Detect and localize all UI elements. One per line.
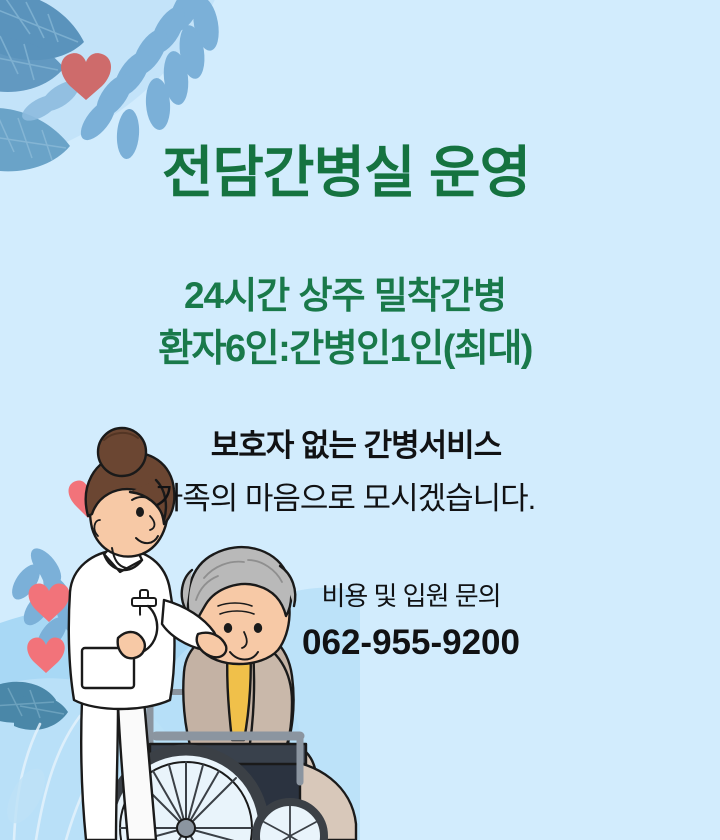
subheadline-block: 24시간 상주 밀착간병 환자6인:간병인1인(최대) [0,270,690,376]
message-line-2: 가족의 마음으로 모시겠습니다. [0,477,690,522]
message-block: 보호자 없는 간병서비스 가족의 마음으로 모시겠습니다. [0,424,690,522]
contact-block: 비용 및 입원 문의 062-955-9200 [0,576,684,663]
subheadline-line-1: 24시간 상주 밀착간병 [0,270,690,323]
poster-root: 전담간병실 운영 24시간 상주 밀착간병 환자6인:간병인1인(최대) 보호자… [0,0,720,840]
page-title: 전담간병실 운영 [0,143,692,203]
text-content: 전담간병실 운영 24시간 상주 밀착간병 환자6인:간병인1인(최대) 보호자… [0,0,720,840]
contact-phone-number[interactable]: 062-955-9200 [138,623,684,663]
contact-label: 비용 및 입원 문의 [138,576,684,613]
message-line-1: 보호자 없는 간병서비스 [0,424,690,469]
subheadline-line-2: 환자6인:간병인1인(최대) [0,323,690,377]
